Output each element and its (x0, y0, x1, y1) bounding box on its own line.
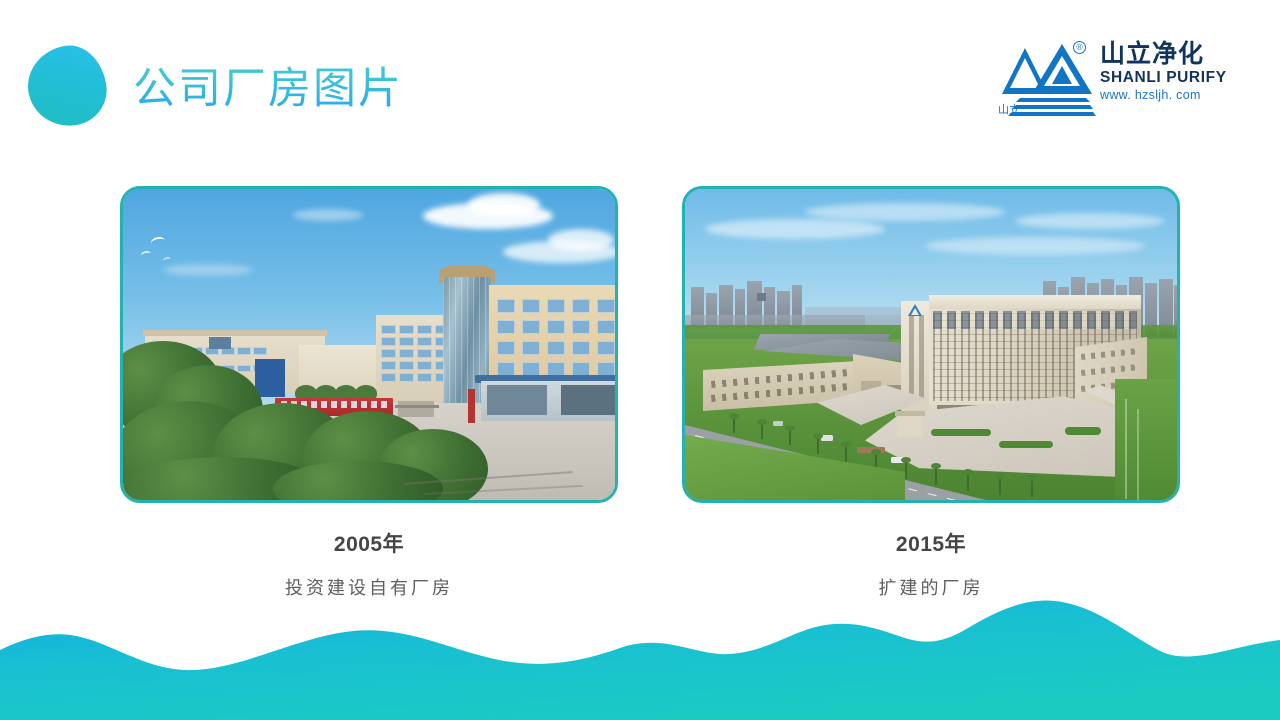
logo-website-url: www. hzsljh. com (1100, 87, 1222, 103)
logo-wordmark: 山立净化 SHANLI PURIFY www. hzsljh. com (1100, 40, 1222, 103)
registered-trademark-icon: ® (1073, 41, 1086, 54)
logo-company-name-cn: 山立净化 (1100, 40, 1222, 69)
factory-photo-2005 (123, 189, 615, 500)
photo-card-2005 (120, 186, 618, 503)
building-logo-icon (907, 303, 923, 317)
caption-year: 2005年 (120, 530, 618, 560)
photo-card-2015 (682, 186, 1180, 503)
bottom-wave-decoration (0, 590, 1280, 720)
caption-year: 2015年 (682, 530, 1180, 560)
title-blob-decoration (23, 41, 111, 131)
slide-canvas: 公司厂房图片 ® 山立 山立净化 SHANLI PURIFY www. hzsl… (0, 0, 1280, 720)
photo-frame-2015[interactable] (682, 186, 1180, 503)
page-title: 公司厂房图片 (133, 60, 403, 118)
factory-photo-2015 (685, 189, 1177, 500)
logo-company-name-en: SHANLI PURIFY (1100, 69, 1222, 87)
logo-mark-subtext: 山立 (998, 104, 1020, 116)
photo-frame-2005[interactable] (120, 186, 618, 503)
company-logo: ® 山立 山立净化 SHANLI PURIFY www. hzsljh. com (1000, 36, 1220, 120)
